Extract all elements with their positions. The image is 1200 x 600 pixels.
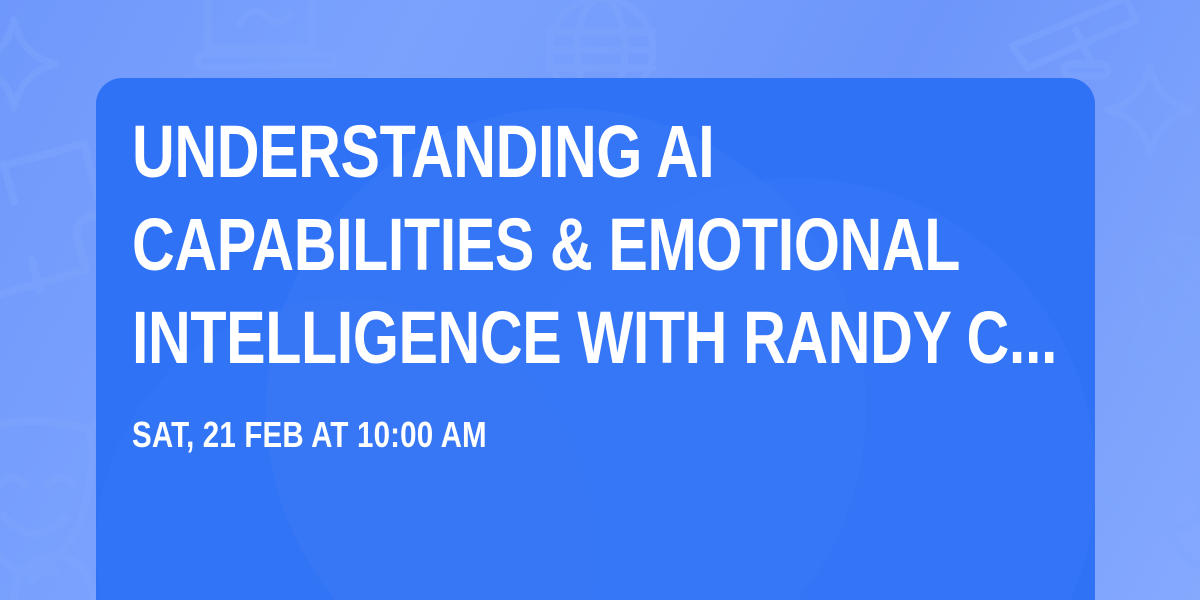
ticket-icon xyxy=(0,144,104,304)
event-card[interactable]: UNDERSTANDING AI CAPABILITIES & EMOTIONA… xyxy=(96,78,1095,600)
event-title-line-2: CAPABILITIES & EMOTIONAL xyxy=(132,198,1092,291)
event-date-time: SAT, 21 FEB AT 10:00 AM xyxy=(132,414,870,456)
event-card-banner: UNDERSTANDING AI CAPABILITIES & EMOTIONA… xyxy=(0,0,1200,600)
event-title: UNDERSTANDING AI CAPABILITIES & EMOTIONA… xyxy=(132,105,1092,384)
podium-icon xyxy=(1012,0,1136,76)
event-title-line-1: UNDERSTANDING AI xyxy=(132,105,1092,198)
confetti-swirl-icon xyxy=(1100,434,1200,571)
laptop-presentation-icon xyxy=(198,0,334,67)
sparkle-star-icon xyxy=(1108,66,1192,154)
sparkle-star-icon-secondary xyxy=(0,20,56,108)
event-title-line-3: INTELLIGENCE WITH RANDY C... xyxy=(132,291,1092,384)
